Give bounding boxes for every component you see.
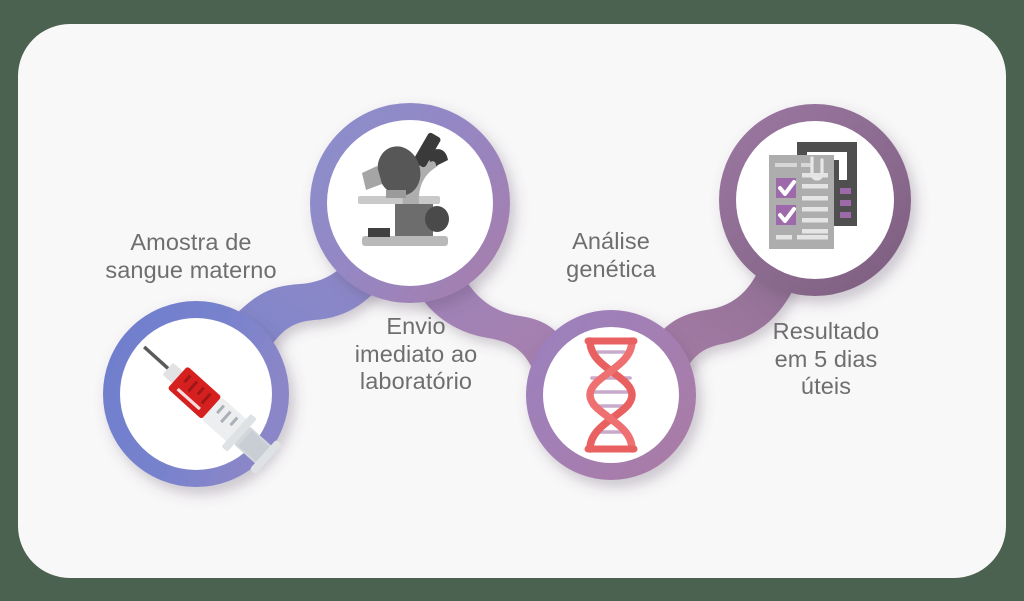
step-label-3: Análise genética [531, 228, 691, 283]
step-circle-4[interactable] [728, 113, 902, 287]
flow-diagram-stage: Amostra de sangue materno Envio imediato… [0, 0, 1024, 601]
step-circle-2[interactable] [319, 112, 501, 294]
step-circle-3[interactable] [535, 319, 687, 471]
step-label-1: Amostra de sangue materno [60, 229, 322, 284]
step-circle-1[interactable] [112, 310, 284, 478]
flow-graphics [0, 0, 1024, 601]
step-label-4: Resultado em 5 dias úteis [735, 318, 917, 401]
step-label-2: Envio imediato ao laboratório [324, 313, 508, 396]
